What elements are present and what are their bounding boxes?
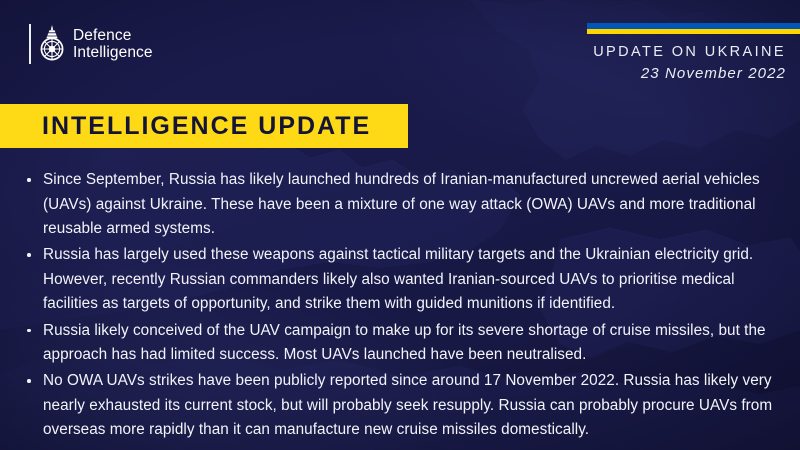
flag-stripe-yellow: [587, 29, 800, 35]
ukraine-flag-bar: [587, 23, 800, 34]
bullet-text: Since September, Russia has likely launc…: [43, 171, 760, 237]
poster-header: Defence Intelligence UPDATE ON UKRAINE 2…: [0, 0, 800, 104]
defence-intelligence-logo: Defence Intelligence: [29, 24, 153, 64]
bullet-content-area: Since September, Russia has likely launc…: [0, 168, 800, 445]
intelligence-update-banner: INTELLIGENCE UPDATE: [0, 104, 408, 148]
bullet-text: Russia likely conceived of the UAV campa…: [43, 322, 766, 364]
bullet-list: Since September, Russia has likely launc…: [0, 168, 800, 443]
bullet-dot-icon: [27, 329, 31, 333]
list-item: Russia likely conceived of the UAV campa…: [0, 319, 800, 368]
logo-wordmark: Defence Intelligence: [73, 27, 153, 62]
update-on-ukraine-label: UPDATE ON UKRAINE: [593, 43, 786, 62]
logo-line-defence: Defence: [73, 27, 153, 45]
list-item: No OWA UAVs strikes have been publicly r…: [0, 369, 800, 443]
update-date: 23 November 2022: [593, 63, 786, 84]
header-update-block: UPDATE ON UKRAINE 23 November 2022: [593, 43, 786, 84]
bullet-text: No OWA UAVs strikes have been publicly r…: [43, 372, 772, 438]
logo-divider-rule: [29, 24, 31, 64]
page-title: INTELLIGENCE UPDATE: [0, 112, 371, 141]
bullet-text: Russia has largely used these weapons ag…: [43, 246, 753, 312]
bullet-dot-icon: [27, 178, 31, 182]
bullet-dot-icon: [27, 379, 31, 383]
poster-root: Defence Intelligence UPDATE ON UKRAINE 2…: [0, 0, 800, 450]
list-item: Russia has largely used these weapons ag…: [0, 243, 800, 317]
logo-line-intelligence: Intelligence: [73, 44, 153, 62]
defence-intelligence-crest-icon: [38, 24, 66, 64]
bullet-dot-icon: [27, 253, 31, 257]
list-item: Since September, Russia has likely launc…: [0, 168, 800, 242]
